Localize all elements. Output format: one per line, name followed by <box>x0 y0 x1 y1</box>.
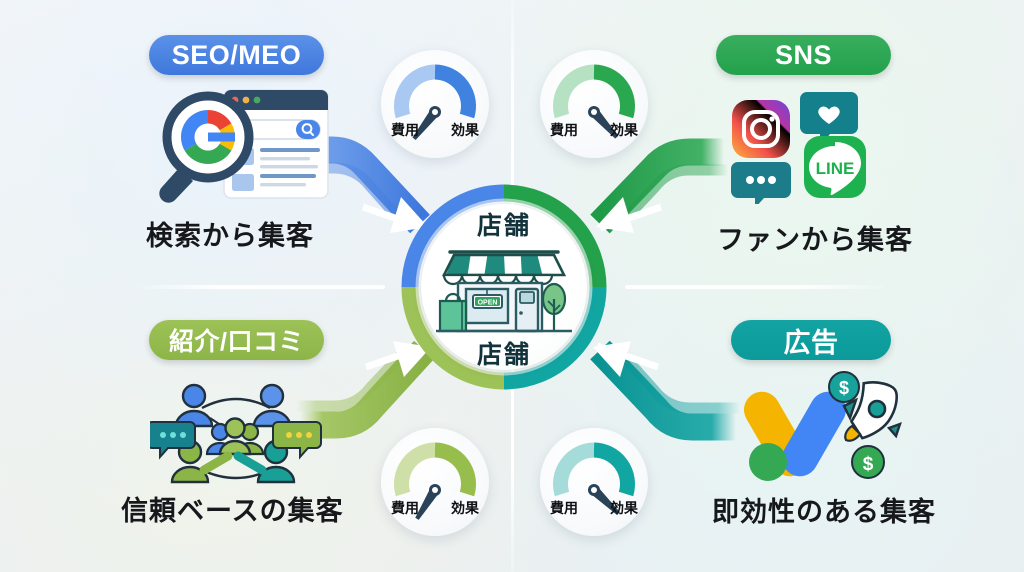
dollar-coin-icon-teal: $ <box>829 372 859 402</box>
people-network-icon <box>150 378 322 490</box>
line-icon: LINE <box>804 136 866 198</box>
gauge-referral: 費用 効果 <box>381 428 489 536</box>
gauge-sns-cost-label: 費用 <box>550 120 578 140</box>
flow-arrow-sns <box>596 152 728 233</box>
badge-seo[interactable]: SEO/MEO <box>149 35 324 75</box>
dots-bubble-icon <box>731 162 791 204</box>
gauge-sns-effect-label: 効果 <box>610 120 638 140</box>
instagram-icon <box>732 100 790 158</box>
badge-referral[interactable]: 紹介/口コミ <box>149 320 324 360</box>
line-label: LINE <box>816 159 855 178</box>
person-top-right <box>254 385 290 426</box>
badge-sns[interactable]: SNS <box>716 35 891 75</box>
badge-ads[interactable]: 広告 <box>731 320 891 360</box>
center-hub: 店舗 店舗 <box>400 183 608 391</box>
gauge-seo-cost-label: 費用 <box>391 120 419 140</box>
gauge-ads-cost-label: 費用 <box>550 498 578 518</box>
gauge-ads-effect-label: 効果 <box>610 498 638 518</box>
google-ads-rocket-icon: $ $ <box>740 362 910 486</box>
caption-referral: 信頼ベースの集客 <box>121 489 344 528</box>
caption-sns: ファンから集客 <box>717 218 913 257</box>
open-sign-label: OPEN <box>478 300 498 307</box>
caption-seo: 検索から集客 <box>146 214 314 253</box>
social-apps-icon: LINE <box>728 86 878 204</box>
coin-label-green: $ <box>863 454 874 475</box>
gauge-referral-effect-label: 効果 <box>451 498 479 518</box>
google-search-magnifier-icon <box>148 84 334 206</box>
coin-label-teal: $ <box>839 378 849 398</box>
flow-arrow-ads <box>593 341 740 427</box>
dollar-coin-icon-green: $ <box>852 446 884 478</box>
caption-ads: 即効性のある集客 <box>712 490 936 529</box>
gauge-seo-effect-label: 効果 <box>451 120 479 140</box>
infographic-canvas: SEO/MEO SNS 紹介/口コミ 広告 検索から集客 ファンから集客 信頼ベ… <box>0 0 1024 572</box>
gauge-sns: 費用 効果 <box>540 50 648 158</box>
gauge-referral-cost-label: 費用 <box>391 498 419 518</box>
gauge-ads: 費用 効果 <box>540 428 648 536</box>
gauge-seo: 費用 効果 <box>381 50 489 158</box>
storefront-icon: OPEN <box>436 237 572 341</box>
